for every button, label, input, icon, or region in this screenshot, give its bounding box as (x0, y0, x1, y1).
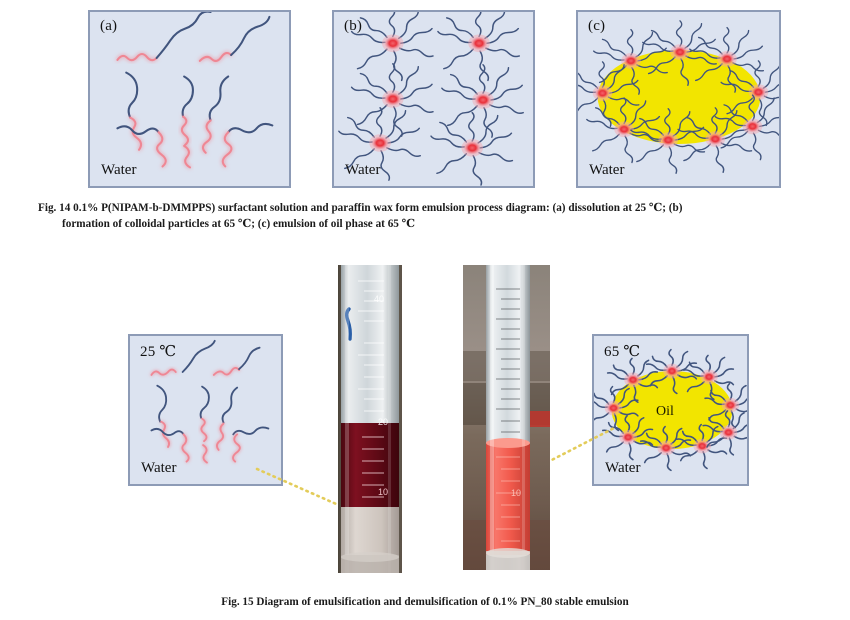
fig15-panel-25c-tag: 25 ℃ (140, 342, 176, 361)
fig14-panel-b-tag: (b) (344, 18, 362, 35)
fig14-caption: Fig. 14 0.1% P(NIPAM-b-DMMPPS) surfactan… (38, 201, 816, 232)
fig14-panel-a-tag: (a) (100, 18, 117, 35)
fig15-panel-25c-phase-label: Water (141, 460, 176, 477)
fig14-panel-c: (c) Water (576, 10, 781, 188)
fig14-panel-a: (a) Water (88, 10, 291, 188)
fig14-panel-b-graphic (334, 12, 533, 186)
fig15-oil-label: Oil (656, 404, 674, 420)
fig14-panel-c-phase-label: Water (589, 162, 624, 179)
fig14-caption-line-1: Fig. 14 0.1% P(NIPAM-b-DMMPPS) surfactan… (38, 201, 816, 217)
fig14-panel-b-phase-label: Water (345, 162, 380, 179)
fig15-panel-25c: 25 ℃ Water (128, 334, 283, 486)
figure-page: (a) Water (0, 0, 850, 620)
fig14-panel-a-phase-label: Water (101, 162, 136, 179)
svg-text:10: 10 (511, 488, 521, 498)
fig14-panel-c-graphic (578, 12, 779, 186)
fig15-panel-65c: 65 ℃ Oil Water (592, 334, 749, 486)
fig14-caption-line-2: formation of colloidal particles at 65 ℃… (38, 217, 816, 233)
demulsified-cylinder-photo-graphic: 40 20 10 (338, 265, 402, 573)
emulsified-cylinder-photo-graphic: 10 (463, 265, 550, 570)
svg-text:40: 40 (374, 294, 384, 304)
fig15-caption: Fig. 15 Diagram of emulsification and de… (60, 595, 790, 611)
emulsified-cylinder-photo: 10 (463, 265, 550, 570)
fig14-panel-b: (b) Water (332, 10, 535, 188)
svg-text:10: 10 (378, 487, 388, 497)
fig15-panel-65c-phase-label: Water (605, 460, 640, 477)
fig14-panel-c-tag: (c) (588, 18, 605, 35)
svg-text:20: 20 (378, 417, 388, 427)
fig14-panel-a-graphic (90, 12, 289, 186)
demulsified-cylinder-photo: 40 20 10 (338, 265, 402, 573)
fig15-caption-text: Fig. 15 Diagram of emulsification and de… (60, 595, 790, 611)
fig15-panel-65c-tag: 65 ℃ (604, 342, 640, 361)
